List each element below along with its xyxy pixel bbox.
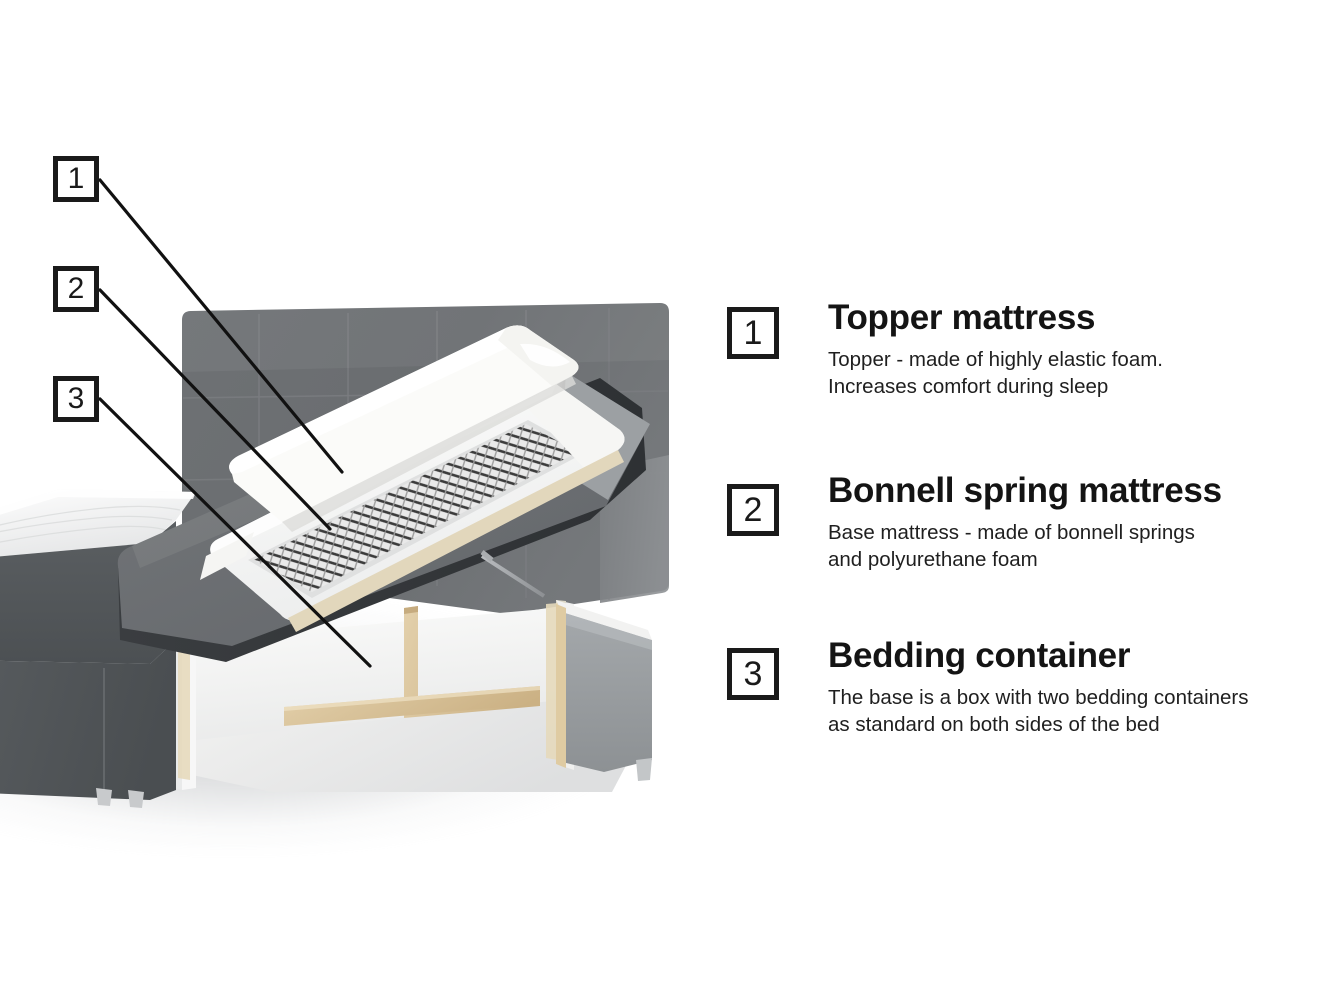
legend-item-2: Bonnell spring mattress Base mattress - … [828,473,1328,573]
callout-marker-2[interactable]: 2 [53,266,99,312]
bed-cutaway-illustration: 1 2 3 [0,0,710,999]
legend-description-2: Base mattress - made of bonnell springs … [828,519,1328,574]
legend-title-2: Bonnell spring mattress [828,473,1328,510]
legend-description-1: Topper - made of highly elastic foam. In… [828,346,1328,401]
diagram-page: 1 2 3 1 Topper mattress Topper - made of… [0,0,1333,999]
legend-item-3: Bedding container The base is a box with… [828,638,1328,738]
callout-marker-1[interactable]: 1 [53,156,99,202]
legend-description-3-line2: as standard on both sides of the bed [828,711,1328,738]
legend-description-1-line1: Topper - made of highly elastic foam. [828,346,1328,373]
legend-title-3: Bedding container [828,638,1328,675]
legend-marker-1[interactable]: 1 [727,307,779,359]
legend-marker-3[interactable]: 3 [727,648,779,700]
legend-description-2-line1: Base mattress - made of bonnell springs [828,519,1328,546]
legend-description-1-line2: Increases comfort during sleep [828,373,1328,400]
legend-description-3: The base is a box with two bedding conta… [828,684,1328,739]
legend-title-1: Topper mattress [828,300,1328,337]
legend-description-2-line2: and polyurethane foam [828,546,1328,573]
callout-marker-3[interactable]: 3 [53,376,99,422]
legend-item-1: Topper mattress Topper - made of highly … [828,300,1328,400]
bed-foot-left [96,788,112,806]
legend-marker-2[interactable]: 2 [727,484,779,536]
legend-description-3-line1: The base is a box with two bedding conta… [828,684,1328,711]
bed-vector-artwork [0,0,710,999]
bed-foot-right [128,790,144,808]
